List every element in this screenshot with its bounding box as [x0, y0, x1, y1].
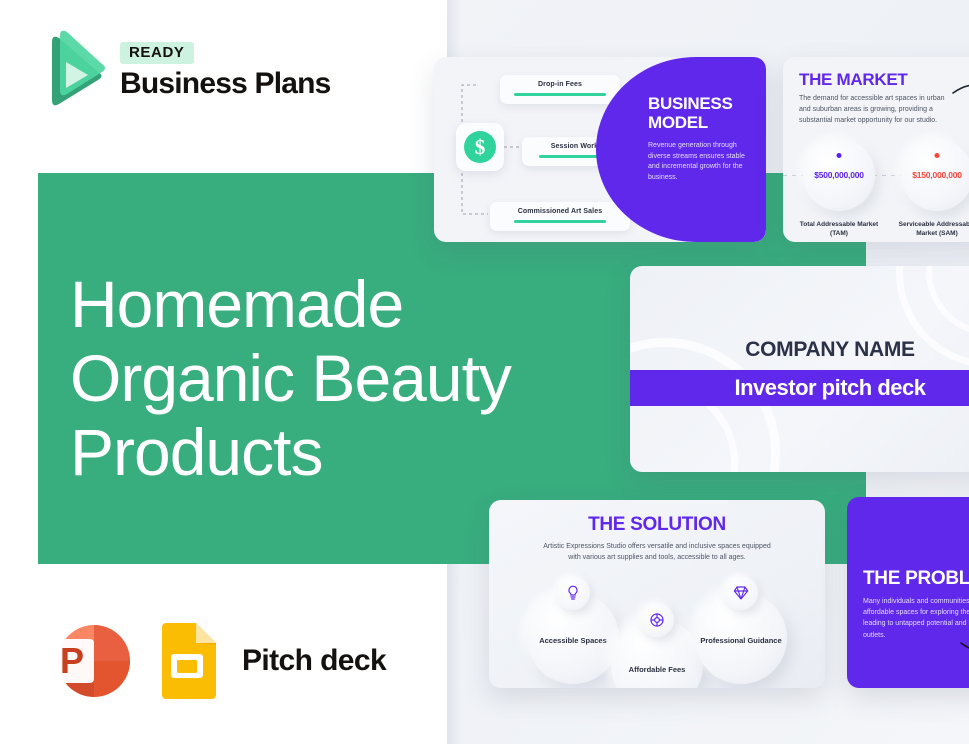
google-slides-file-icon	[156, 621, 218, 701]
metric-caption: Serviceable Addressable Market (SAM)	[891, 220, 969, 239]
brand-text-block: READY Business Plans	[120, 42, 331, 100]
problem-body: Many individuals and communities lack ac…	[863, 596, 969, 641]
revenue-stream-chip[interactable]: Drop-in Fees	[500, 75, 620, 104]
metric-amount: $150,000,000	[901, 170, 969, 180]
diamond-icon	[724, 576, 758, 610]
solution-node-label: Accessible Spaces	[539, 635, 607, 646]
market-metric-circle: $500,000,000	[803, 139, 875, 211]
slide-business-model[interactable]: $ Drop-in Fees Session Workshops Commiss…	[434, 57, 766, 242]
curved-arrow-icon	[959, 637, 969, 671]
brand-logo-block: READY Business Plans	[40, 32, 331, 110]
pitch-deck-band: Investor pitch deck	[630, 370, 969, 406]
business-model-title: BUSINESS MODEL	[648, 95, 758, 132]
chip-label: Drop-in Fees	[512, 81, 608, 88]
ready-badge: READY	[120, 42, 194, 64]
solution-node[interactable]: Affordable Fees	[611, 619, 703, 688]
lightbulb-icon	[556, 576, 590, 610]
solution-node-label: Professional Guidance	[700, 635, 781, 646]
market-body: The demand for accessible art spaces in …	[799, 94, 954, 127]
company-name-heading: COMPANY NAME	[630, 338, 969, 362]
coin-target-icon	[640, 603, 674, 637]
poster-canvas: READY Business Plans Homemade Organic Be…	[0, 0, 969, 744]
solution-node-label: Affordable Fees	[629, 664, 686, 675]
svg-text:P: P	[60, 640, 84, 681]
business-model-body: Revenue generation through diverse strea…	[648, 141, 758, 183]
metric-amount: $500,000,000	[803, 170, 875, 180]
solution-title: THE SOLUTION	[489, 514, 825, 536]
slide-problem[interactable]: THE PROBLEM Many individuals and communi…	[847, 497, 969, 688]
solution-body: Artistic Expressions Studio offers versa…	[542, 541, 772, 563]
revenue-stream-chip[interactable]: Commissioned Art Sales	[490, 202, 630, 231]
powerpoint-file-icon: P	[42, 613, 138, 709]
chip-underline	[514, 93, 606, 96]
format-row: P Pitch deck	[42, 613, 386, 709]
pitch-deck-subtitle: Investor pitch deck	[734, 375, 925, 401]
market-metric-circle: $150,000,000	[901, 139, 969, 211]
chip-label: Commissioned Art Sales	[502, 208, 618, 215]
slide-company-name[interactable]: COMPANY NAME Investor pitch deck	[630, 266, 969, 472]
hero-title: Homemade Organic Beauty Products	[70, 268, 590, 490]
problem-title: THE PROBLEM	[863, 568, 969, 590]
market-title: THE MARKET	[799, 70, 907, 90]
decorative-rings	[630, 266, 969, 472]
solution-node[interactable]: Professional Guidance	[695, 592, 787, 684]
curved-arrow-icon	[951, 71, 969, 119]
metric-dot-icon	[935, 153, 940, 158]
slide-market[interactable]: THE MARKET The demand for accessible art…	[783, 57, 969, 242]
slide-solution[interactable]: THE SOLUTION Artistic Expressions Studio…	[489, 500, 825, 688]
revenue-icon-tile: $	[456, 123, 504, 171]
format-label: Pitch deck	[242, 644, 386, 678]
dollar-sign-icon: $	[464, 131, 496, 163]
brand-name: Business Plans	[120, 68, 331, 100]
metric-dot-icon	[837, 153, 842, 158]
metric-caption: Total Addressable Market (TAM)	[793, 220, 885, 239]
play-triangle-logo-icon	[40, 32, 106, 110]
solution-node[interactable]: Accessible Spaces	[527, 592, 619, 684]
chip-underline	[514, 220, 606, 223]
